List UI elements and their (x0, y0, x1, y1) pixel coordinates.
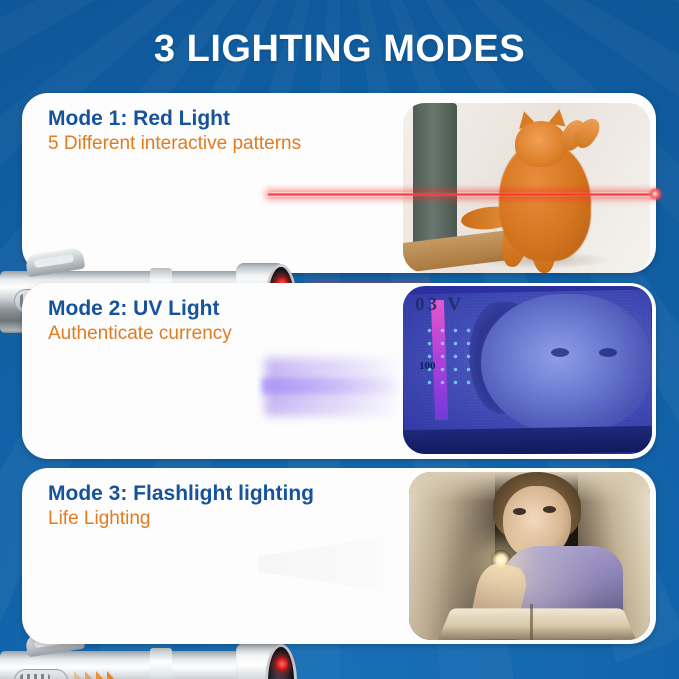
chevron-icon (96, 671, 106, 679)
girl-eye-right (543, 506, 556, 513)
mode-1-subtitle: 5 Different interactive patterns (48, 132, 301, 156)
red-led-icon (276, 657, 288, 671)
chevron-icon (74, 671, 84, 679)
uv-light-beam-core (262, 378, 400, 394)
book-spine (530, 604, 533, 640)
chevron-arrows-group (74, 671, 117, 679)
laser-beam-outer (268, 192, 658, 197)
open-book (438, 608, 636, 639)
flashlight-pocket-clip (25, 247, 86, 278)
mode-3-text-block: Mode 3: Flashlight lighting Life Lightin… (48, 482, 314, 531)
mode-1-photo-cat-laser (403, 103, 650, 273)
girl-scene (409, 472, 650, 640)
banknote-serial-fragment: 03 V (415, 294, 464, 316)
laser-dot-icon (648, 187, 662, 201)
franklin-eye-left (551, 348, 569, 357)
flashlight-head (236, 643, 288, 679)
cat-head (515, 121, 567, 167)
mode-3-photo-girl-reading (409, 472, 650, 640)
banknote-microprint-dots (423, 324, 471, 386)
chevron-icon (85, 671, 95, 679)
handheld-flashlight-icon (491, 550, 511, 570)
door-panel (413, 103, 457, 253)
franklin-eye-right (599, 348, 617, 357)
mode-card-1: Mode 1: Red Light 5 Different interactiv… (22, 93, 656, 273)
mode-2-title: Mode 2: UV Light (48, 297, 232, 321)
page-title: 3 LIGHTING MODES (0, 28, 679, 71)
banknote-scene: 03 V 100 (403, 286, 652, 454)
cat-scene (403, 103, 650, 273)
mode-3-subtitle: Life Lighting (48, 507, 314, 531)
flashlight-clip-highlight (34, 254, 75, 268)
flashlight-lens (268, 647, 294, 679)
girl-eye-left (513, 508, 526, 515)
franklin-face (481, 294, 651, 434)
mode-3-title: Mode 3: Flashlight lighting (48, 482, 314, 506)
flashlight-power-switch (14, 669, 68, 679)
mode-2-photo-uv-banknote: 03 V 100 (403, 286, 652, 454)
mode-2-text-block: Mode 2: UV Light Authenticate currency (48, 297, 232, 346)
banknote-bottom-edge (403, 426, 652, 454)
chevron-icon (107, 671, 117, 679)
banknote-micro-number: 100 (419, 360, 436, 372)
mode-1-text-block: Mode 1: Red Light 5 Different interactiv… (48, 107, 301, 156)
poster-root: 3 LIGHTING MODES Mode 1: Red Light 5 Dif… (0, 0, 679, 679)
mode-1-title: Mode 1: Red Light (48, 107, 301, 131)
flashlight-knurled-ring (150, 648, 172, 679)
flashlight-switch-grip (20, 674, 50, 679)
mode-2-subtitle: Authenticate currency (48, 322, 232, 346)
flashlight-body (0, 651, 268, 679)
